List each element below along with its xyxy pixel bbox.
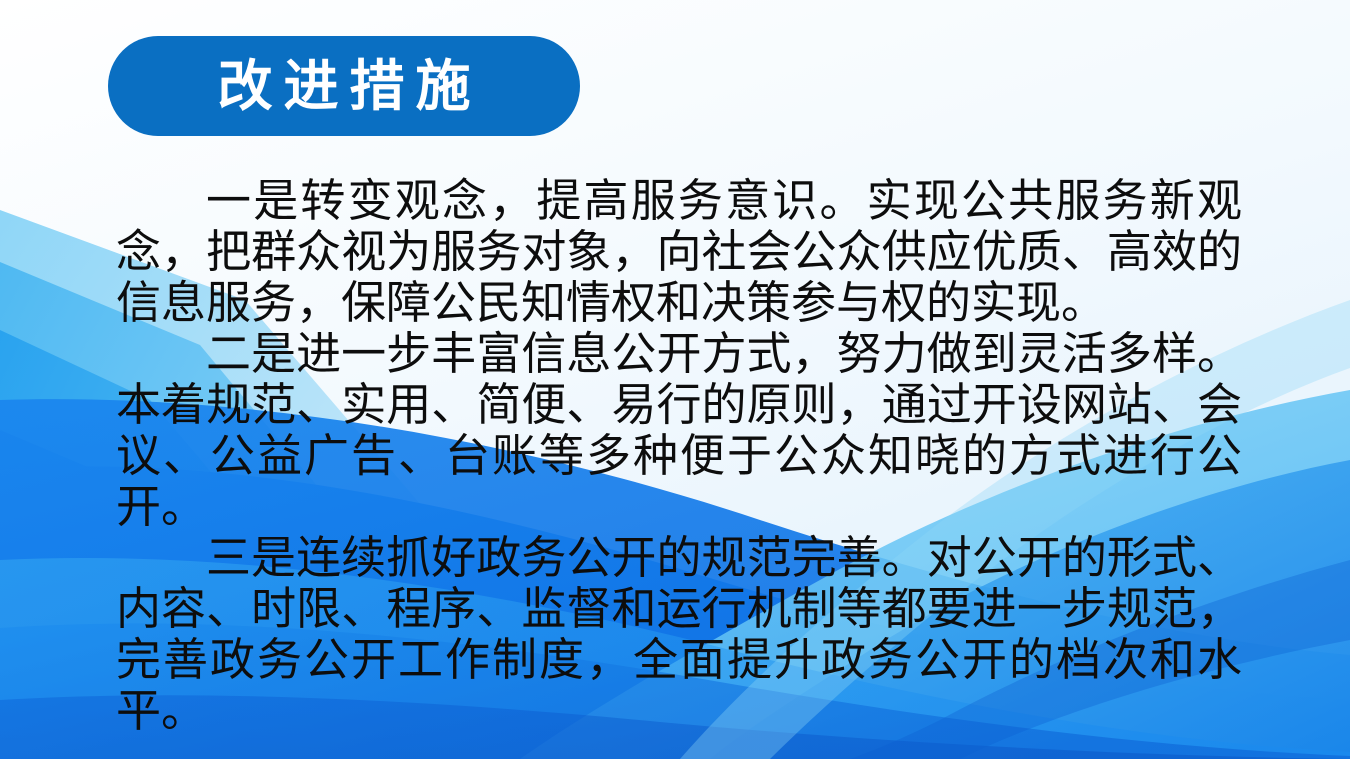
body-text-block: 一是转变观念，提高服务意识。实现公共服务新观念，把群众视为服务对象，向社会公众供… [116, 176, 1242, 737]
paragraph-1: 一是转变观念，提高服务意识。实现公共服务新观念，把群众视为服务对象，向社会公众供… [116, 176, 1242, 329]
page-title: 改进措施 [206, 59, 481, 114]
title-pill: 改进措施 [108, 36, 580, 136]
paragraph-2: 二是进一步丰富信息公开方式，努力做到灵活多样。本着规范、实用、简便、易行的原则，… [116, 329, 1242, 533]
paragraph-3: 三是连续抓好政务公开的规范完善。对公开的形式、内容、时限、程序、监督和运行机制等… [116, 533, 1242, 737]
slide-canvas: 改进措施 一是转变观念，提高服务意识。实现公共服务新观念，把群众视为服务对象，向… [0, 0, 1350, 759]
